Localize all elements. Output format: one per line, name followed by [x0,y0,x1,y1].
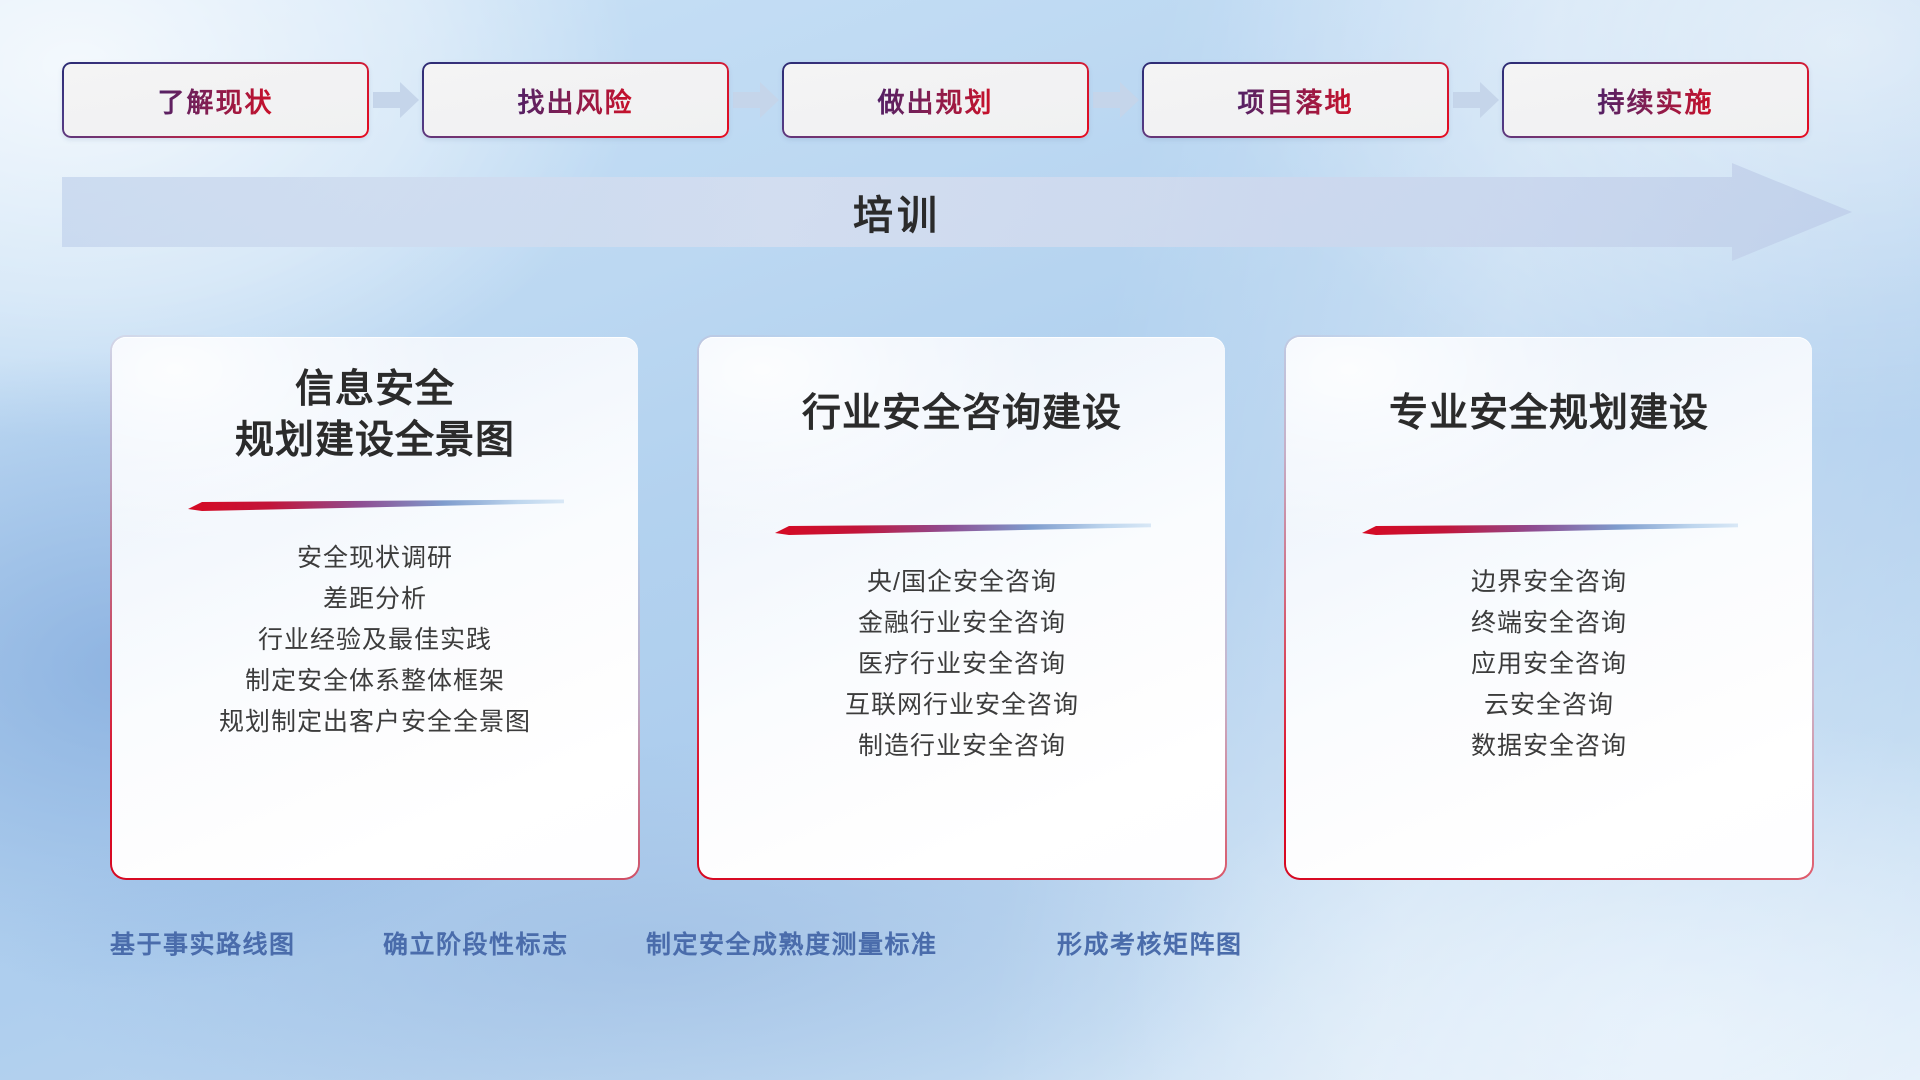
step-box-3[interactable]: 做出规划 [782,62,1089,138]
list-item: 云安全咨询 [1484,685,1614,726]
card-2-divider [773,522,1151,536]
training-banner: 培训 [62,163,1852,261]
footer-caption-row: 基于事实路线图 确立阶段性标志 制定安全成熟度测量标准 形成考核矩阵图 [0,925,1920,973]
banner-title: 培训 [62,163,1732,261]
card-3-list: 边界安全咨询 终端安全咨询 应用安全咨询 云安全咨询 数据安全咨询 [1284,562,1814,767]
process-step-row: 了解现状 找出风险 做出规划 项目落地 持续实施 [0,62,1920,138]
list-item: 安全现状调研 [297,538,453,579]
step-arrow-2 [729,80,782,120]
card-2-title: 行业安全咨询建设 [697,389,1227,440]
list-item: 数据安全咨询 [1471,726,1627,767]
footer-label-3: 制定安全成熟度测量标准 [646,925,938,961]
step-label-5: 持续实施 [1502,62,1809,138]
card-1[interactable]: 信息安全 规划建设全景图 [110,335,640,880]
card-3[interactable]: 专业安全规划建设 [1284,335,1814,880]
list-item: 行业经验及最佳实践 [258,620,492,661]
card-2-title-line-1: 行业安全咨询建设 [723,389,1201,440]
footer-label-2: 确立阶段性标志 [383,925,569,961]
step-label-1: 了解现状 [62,62,369,138]
card-3-title-line-1: 专业安全规划建设 [1310,389,1788,440]
card-1-divider [186,498,564,512]
list-item: 终端安全咨询 [1471,603,1627,644]
list-item: 互联网行业安全咨询 [845,685,1079,726]
step-arrow-1 [369,80,422,120]
footer-label-1: 基于事实路线图 [110,925,296,961]
card-1-title-line-2: 规划建设全景图 [136,416,614,467]
step-box-1[interactable]: 了解现状 [62,62,369,138]
list-item: 应用安全咨询 [1471,644,1627,685]
card-1-title: 信息安全 规划建设全景图 [110,365,640,466]
list-item: 制造行业安全咨询 [858,726,1066,767]
card-row: 信息安全 规划建设全景图 [0,335,1920,880]
list-item: 边界安全咨询 [1471,562,1627,603]
step-label-3: 做出规划 [782,62,1089,138]
card-2[interactable]: 行业安全咨询建设 [697,335,1227,880]
card-2-list: 央/国企安全咨询 金融行业安全咨询 医疗行业安全咨询 互联网行业安全咨询 制造行… [697,562,1227,767]
list-item: 差距分析 [323,579,427,620]
list-item: 规划制定出客户安全全景图 [219,702,531,743]
list-item: 金融行业安全咨询 [858,603,1066,644]
card-1-list: 安全现状调研 差距分析 行业经验及最佳实践 制定安全体系整体框架 规划制定出客户… [110,538,640,743]
step-label-4: 项目落地 [1142,62,1449,138]
card-1-title-line-1: 信息安全 [136,365,614,416]
step-arrow-3 [1089,80,1142,120]
step-arrow-4 [1449,80,1502,120]
list-item: 央/国企安全咨询 [867,562,1057,603]
step-box-5[interactable]: 持续实施 [1502,62,1809,138]
card-3-divider [1360,522,1738,536]
step-label-2: 找出风险 [422,62,729,138]
footer-label-4: 形成考核矩阵图 [1057,925,1243,961]
card-3-title: 专业安全规划建设 [1284,389,1814,440]
list-item: 医疗行业安全咨询 [858,644,1066,685]
step-box-4[interactable]: 项目落地 [1142,62,1449,138]
list-item: 制定安全体系整体框架 [245,661,505,702]
step-box-2[interactable]: 找出风险 [422,62,729,138]
